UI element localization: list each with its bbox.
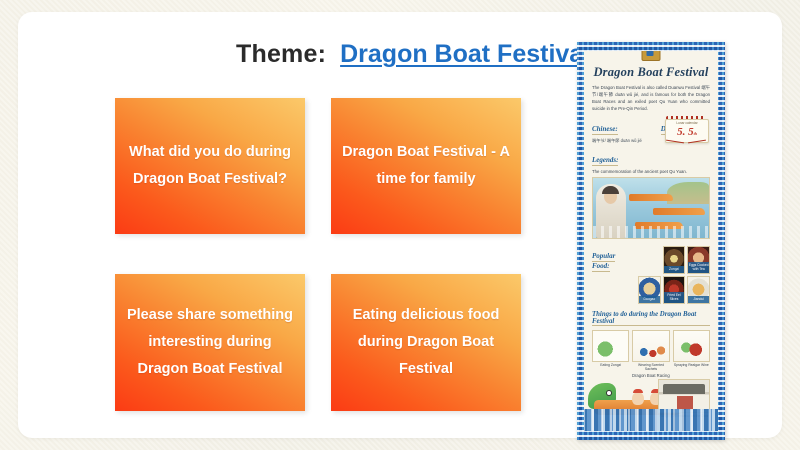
theme-label: Theme: [236,40,326,69]
popular-food-heading: Popular Food: [592,246,634,304]
food-cell: Eggs Cooked with Tea [687,246,710,274]
text-box-2-label: Dragon Boat Festival - A time for family [341,139,511,193]
text-box-3-label: Please share something interesting durin… [125,302,295,382]
text-box-1-label: What did you do during Dragon Boat Festi… [125,139,295,193]
scented-sachets-image [632,330,669,362]
sea-waves-decoration [584,409,718,431]
chinese-heading: Chinese: [592,125,618,135]
food-caption: Jiandui [688,296,709,302]
thing-cell: Eating Zongzi [592,330,629,372]
mountain-shape [667,182,709,204]
thing-caption: Spraying Realgar Wine [673,363,710,368]
calendar-date-value: 5. 5th [666,126,708,138]
food-caption: Eggs Cooked with Tea [688,262,709,272]
text-box-3[interactable]: Please share something interesting durin… [115,274,305,411]
rower-figure-icon [632,392,644,405]
dragon-boat-festival-infographic[interactable]: Dragon Boat Festival The Dragon Boat Fes… [577,42,725,440]
food-cell: Jiandui [687,276,710,304]
calendar-icon: Lunar calendar 5. 5th [662,116,710,146]
slide-title: Theme: Dragon Boat Festival [236,40,590,69]
food-caption: Daogao [639,296,660,302]
text-box-4-label: Eating delicious food during Dragon Boat… [341,302,511,382]
theme-value-link[interactable]: Dragon Boat Festival [340,40,590,69]
poster-chinese-date-row: Chinese: 端午节/ 端午節 duān wǔ jié Date: Luna… [592,118,710,145]
thing-caption: Eating Zongzi [592,363,629,368]
slide-canvas: Theme: Dragon Boat Festival What did you… [18,12,782,438]
realgar-wine-image [673,330,710,362]
popular-food-section: Popular Food: Zongzi Eggs Cooked with Te… [592,246,710,304]
dragon-boat-shape [629,194,673,201]
thing-caption: Wearing Scented Sachets [632,363,669,372]
calendar-stand-icon [664,141,708,145]
popular-food-heading-line1: Popular [592,252,615,262]
poster-chinese-block: Chinese: 端午节/ 端午節 duān wǔ jié [592,118,655,145]
legends-text: The commemoration of the ancient poet Qu… [592,169,710,174]
things-to-do-heading: Things to do during the Dragon Boat Fest… [592,311,710,326]
food-caption: Zongzi [664,266,685,272]
poster-date-block: Date: Lunar calendar 5. 5th [661,118,710,145]
calendar-caption: Lunar calendar [666,121,708,125]
food-cell: Zongzi [663,246,686,274]
wormwood-door-image [658,379,710,413]
food-cell: Fried Eel Slices [663,276,686,304]
things-grid: Eating Zongzi Wearing Scented Sachets Sp… [592,330,710,372]
poster-title: Dragon Boat Festival [592,65,710,80]
food-caption: Fried Eel Slices [664,292,685,302]
food-cell: Daogao [638,276,661,304]
poster-content: Dragon Boat Festival The Dragon Boat Fes… [584,51,718,431]
calendar-day-suffix: th [694,131,697,136]
qu-yuan-dragon-boat-illustration [592,177,710,239]
water-waves [593,226,709,238]
poster-bottom-section: Dragon Boat Racing Hanging Wormwood on t… [592,375,710,431]
calendar-month: 5. [677,126,685,138]
thing-cell: Wearing Scented Sachets [632,330,669,372]
text-box-1[interactable]: What did you do during Dragon Boat Festi… [115,98,305,234]
popular-food-heading-line2: Food: [592,262,610,272]
legends-heading: Legends: [592,156,618,166]
dragon-boat-racing-label: Dragon Boat Racing [632,373,670,378]
text-box-4[interactable]: Eating delicious food during Dragon Boat… [331,274,521,411]
food-cell-spacer [638,246,661,274]
eating-zongzi-image [592,330,629,362]
dragon-boat-shape [653,208,705,215]
poster-intro-text: The Dragon Boat Festival is also called … [592,85,710,113]
text-box-2[interactable]: Dragon Boat Festival - A time for family [331,98,521,234]
food-grid: Zongzi Eggs Cooked with Tea Daogao [638,246,710,304]
things-to-do-section: Things to do during the Dragon Boat Fest… [592,310,710,372]
poster-medallion-icon [642,51,661,61]
text-box-grid: What did you do during Dragon Boat Festi… [115,98,521,410]
thing-cell: Spraying Realgar Wine [673,330,710,372]
chinese-value: 端午节/ 端午節 duān wǔ jié [592,138,655,145]
